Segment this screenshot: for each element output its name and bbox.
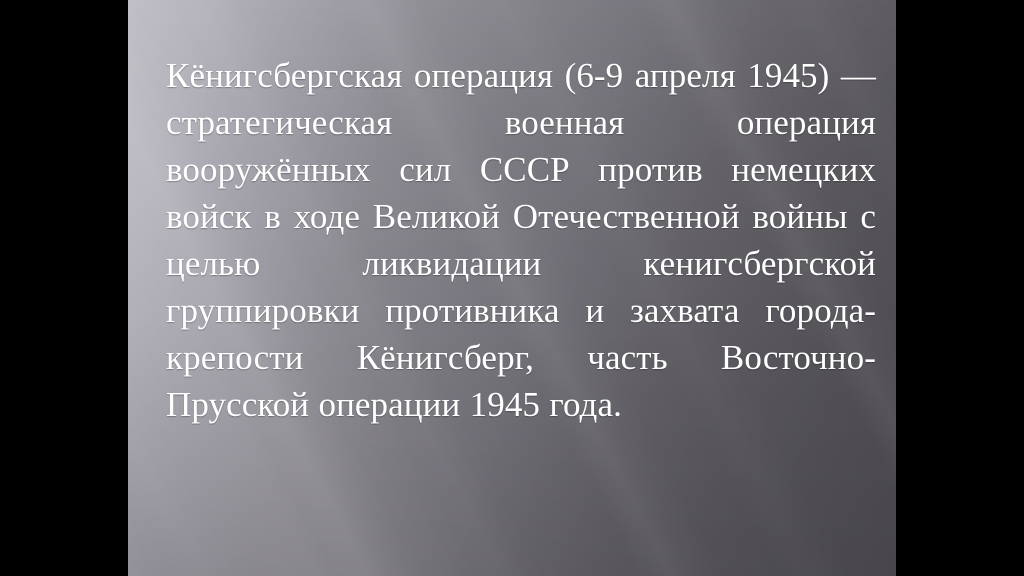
letterbox-bar-right [896, 0, 1024, 576]
letterbox-bar-left [0, 0, 128, 576]
slide-body-paragraph: Кёнигсбергская операция (6-9 апреля 1945… [166, 52, 876, 428]
slide-body-text: Кёнигсбергская операция (6-9 апреля 1945… [166, 52, 876, 428]
slide-viewport: Кёнигсбергская операция (6-9 апреля 1945… [0, 0, 1024, 576]
slide-canvas: Кёнигсбергская операция (6-9 апреля 1945… [128, 0, 896, 576]
